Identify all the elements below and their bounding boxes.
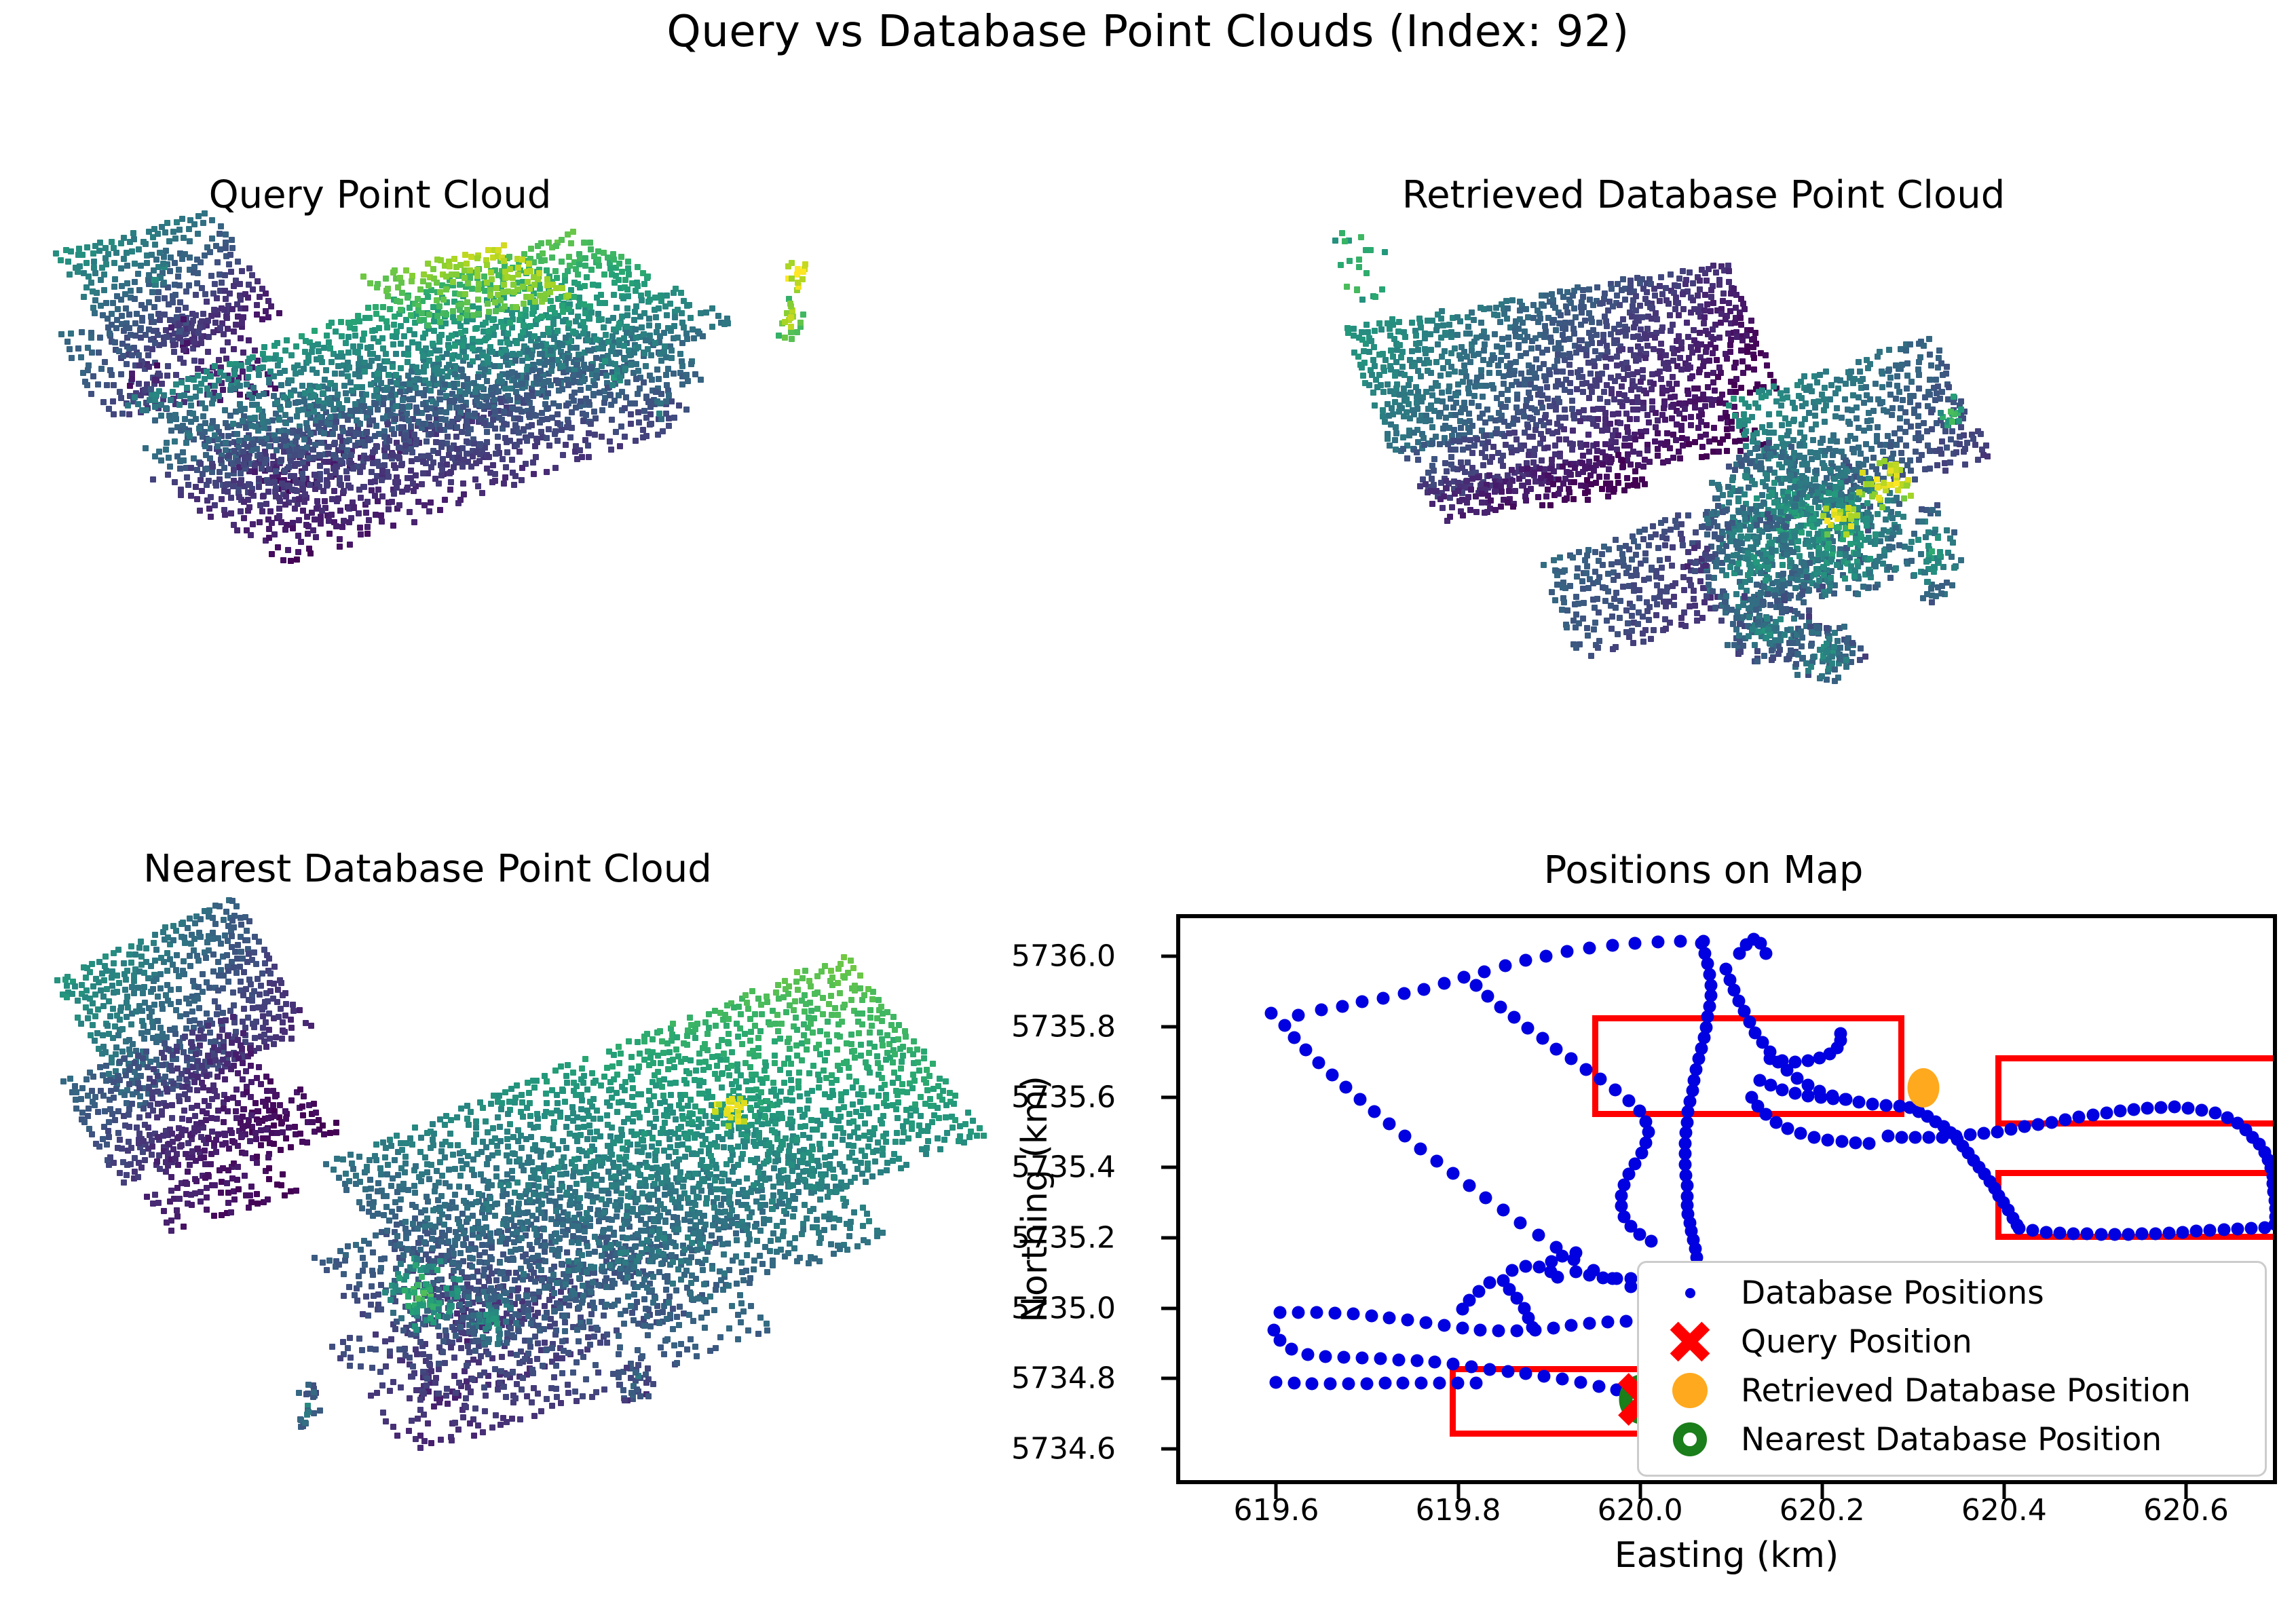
database-position-point	[1365, 1309, 1378, 1322]
point-cloud-query	[41, 244, 1059, 787]
panel-title-nearest: Nearest Database Point Cloud	[0, 847, 855, 891]
database-position-point	[1378, 1377, 1391, 1390]
database-position-point	[1483, 1363, 1496, 1376]
database-position-point	[1629, 937, 1642, 950]
database-position-point	[1274, 1306, 1287, 1319]
database-position-point	[1606, 939, 1619, 952]
database-position-point	[2100, 1107, 2113, 1120]
database-position-point	[1835, 1135, 1848, 1148]
database-position-point	[1287, 1032, 1300, 1044]
database-position-point	[1437, 1319, 1450, 1332]
database-position-point	[1583, 942, 1596, 955]
database-position-point	[1456, 1302, 1469, 1315]
database-position-point	[1538, 1370, 1551, 1383]
database-position-point	[1514, 1216, 1527, 1229]
database-position-point	[1840, 1093, 1853, 1106]
database-position-point	[1437, 977, 1450, 989]
database-position-point	[1619, 1315, 1632, 1327]
database-position-point	[1991, 1125, 2003, 1138]
database-position-point	[2177, 1226, 2189, 1239]
panel-title-query: Query Point Cloud	[75, 173, 685, 217]
legend-item[interactable]: Database Positions	[1639, 1268, 2265, 1317]
database-position-point	[1624, 1272, 1637, 1285]
database-position-point	[1418, 983, 1431, 996]
database-position-point	[1465, 1361, 1478, 1374]
database-position-point	[2040, 1226, 2053, 1239]
database-position-point	[1526, 1321, 1539, 1334]
database-position-point	[2155, 1101, 2168, 1114]
database-position-point	[2094, 1228, 2107, 1241]
database-position-point	[1419, 1317, 1432, 1329]
database-position-point	[1383, 1118, 1396, 1131]
database-position-point	[1292, 1008, 1305, 1021]
database-position-point	[1458, 971, 1471, 984]
database-position-point	[2059, 1114, 2072, 1127]
database-position-point	[1299, 1044, 1312, 1057]
database-position-point	[1482, 990, 1494, 1003]
database-position-point	[1447, 1167, 1460, 1179]
database-position-point	[1311, 1306, 1323, 1319]
database-position-point	[1808, 1131, 1821, 1144]
database-position-point	[1539, 950, 1552, 963]
database-position-point	[1592, 1380, 1605, 1393]
database-position-point	[1776, 1084, 1789, 1097]
legend-label: Database Positions	[1741, 1274, 2044, 1312]
y-tick-label: 5734.6	[1011, 1432, 1116, 1467]
database-position-point	[1415, 1377, 1428, 1390]
database-position-point	[2244, 1222, 2257, 1235]
database-position-point	[1909, 1131, 1922, 1144]
database-position-point	[1633, 1228, 1646, 1241]
y-tick-mark	[1161, 1095, 1176, 1099]
database-position-point	[1456, 1322, 1469, 1335]
y-tick-mark	[1161, 1377, 1176, 1380]
database-position-point	[1433, 1377, 1446, 1390]
database-position-point	[1325, 1068, 1338, 1081]
legend-item[interactable]: Nearest Database Position	[1639, 1415, 2265, 1464]
y-tick-mark	[1161, 1166, 1176, 1169]
database-position-point	[1862, 1137, 1875, 1150]
database-position-point	[1814, 1091, 1827, 1104]
database-position-point	[1474, 1323, 1487, 1336]
database-position-point	[2149, 1227, 2162, 1240]
database-position-point	[1579, 1063, 1592, 1076]
database-position-point	[1822, 1133, 1834, 1146]
database-position-point	[2135, 1228, 2148, 1241]
database-position-point	[1763, 1053, 1776, 1065]
database-position-point	[2073, 1111, 2086, 1124]
database-position-point	[1399, 1130, 1412, 1143]
database-position-point	[1274, 1334, 1287, 1347]
point-cloud-retrieved	[1317, 244, 2280, 808]
y-tick-label: 5735.8	[1011, 1009, 1116, 1044]
database-position-point	[1447, 1358, 1460, 1371]
y-tick-mark	[1161, 955, 1176, 958]
database-position-point	[1881, 1130, 1894, 1143]
map-legend[interactable]: Database PositionsQuery PositionRetrieve…	[1637, 1261, 2267, 1477]
database-position-point	[1285, 1343, 1298, 1356]
database-position-point	[1532, 1228, 1545, 1241]
database-position-point	[2163, 1226, 2176, 1239]
y-tick-mark	[1161, 1448, 1176, 1451]
y-tick-mark	[1161, 1236, 1176, 1240]
database-position-point	[1549, 1042, 1562, 1055]
database-position-point	[1510, 1324, 1523, 1337]
database-position-point	[2190, 1225, 2203, 1238]
database-position-point	[1645, 1235, 1658, 1248]
database-position-point	[1463, 1179, 1476, 1192]
database-position-point	[1401, 1314, 1414, 1327]
database-position-point	[1556, 1373, 1569, 1386]
database-position-point	[1499, 960, 1511, 972]
database-position-point	[1319, 1350, 1332, 1363]
database-position-point	[2081, 1228, 2094, 1241]
database-position-point	[1414, 1142, 1427, 1155]
y-tick-label: 5736.0	[1011, 939, 1116, 974]
database-position-point	[2046, 1116, 2058, 1129]
database-position-point	[1376, 991, 1389, 1004]
database-position-point	[1801, 1089, 1814, 1102]
database-position-point	[1469, 1377, 1482, 1390]
legend-marker-circle-icon	[1639, 1373, 1741, 1408]
database-position-point	[1451, 1377, 1464, 1390]
database-position-point	[1492, 1324, 1505, 1337]
database-position-point	[1292, 1306, 1305, 1319]
database-position-point	[1622, 1094, 1635, 1107]
database-position-point	[1339, 1080, 1352, 1093]
database-position-point	[1328, 1306, 1341, 1319]
database-position-point	[2086, 1109, 2099, 1122]
database-position-point	[1853, 1095, 1866, 1108]
database-position-point	[1383, 1311, 1396, 1324]
database-position-point	[1880, 1099, 1893, 1112]
legend-marker-ring-icon	[1639, 1422, 1741, 1456]
database-position-point	[1789, 1087, 1802, 1100]
database-position-point	[1896, 1131, 1908, 1143]
database-position-point	[2027, 1224, 2039, 1237]
database-position-point	[2032, 1118, 2045, 1131]
database-position-point	[1392, 1353, 1405, 1366]
database-position-point	[1360, 1378, 1373, 1391]
database-position-point	[1574, 1376, 1587, 1389]
panel-title-map: Positions on Map	[1432, 848, 1975, 892]
database-position-point	[1849, 1136, 1862, 1149]
database-position-point	[1789, 1055, 1802, 1068]
database-position-point	[1497, 1204, 1509, 1217]
database-position-point	[1547, 1322, 1560, 1335]
database-position-point	[1594, 1073, 1607, 1086]
database-position-point	[2067, 1227, 2080, 1240]
y-tick-mark	[1161, 1306, 1176, 1310]
database-position-point	[1356, 1352, 1369, 1365]
retrieved-position-marker	[1908, 1068, 1940, 1108]
database-position-point	[1494, 1000, 1507, 1013]
database-position-point	[1556, 1249, 1569, 1262]
database-position-point	[1507, 1011, 1520, 1024]
y-tick-mark	[1161, 1025, 1176, 1028]
database-position-point	[2004, 1123, 2017, 1136]
database-position-point	[1306, 1378, 1319, 1391]
database-position-point	[1520, 1367, 1532, 1380]
legend-marker-dot-icon	[1639, 1288, 1741, 1298]
legend-item[interactable]: Retrieved Database Position	[1639, 1366, 2265, 1415]
database-position-point	[1469, 979, 1482, 991]
figure-suptitle: Query vs Database Point Clouds (Index: 9…	[0, 7, 2296, 57]
database-position-point	[1674, 934, 1687, 947]
database-position-point	[1651, 936, 1664, 949]
database-position-point	[1287, 1377, 1300, 1390]
database-position-point	[1570, 1246, 1583, 1259]
database-position-point	[1950, 1130, 1963, 1143]
database-position-point	[1560, 945, 1573, 958]
database-position-point	[1520, 954, 1532, 967]
database-position-point	[1501, 1365, 1514, 1378]
database-position-point	[1506, 1264, 1519, 1277]
database-position-point	[1602, 1316, 1615, 1329]
database-position-point	[1583, 1269, 1596, 1282]
database-position-point	[1354, 1093, 1367, 1106]
database-position-point	[1551, 1270, 1564, 1283]
database-position-point	[1279, 1019, 1292, 1032]
database-position-point	[2018, 1120, 2031, 1133]
database-position-point	[2217, 1224, 2230, 1236]
database-position-point	[1597, 1271, 1610, 1284]
database-position-point	[1801, 1055, 1814, 1067]
database-position-point	[1760, 947, 1773, 960]
database-position-point	[2204, 1224, 2217, 1237]
database-position-point	[1520, 1260, 1532, 1273]
database-position-point	[1374, 1353, 1387, 1365]
legend-item[interactable]: Query Position	[1639, 1317, 2265, 1366]
legend-marker-x-icon	[1639, 1322, 1741, 1361]
database-position-point	[2209, 1107, 2222, 1120]
database-position-point	[1764, 1079, 1777, 1092]
database-position-point	[2182, 1102, 2195, 1115]
database-position-point	[1565, 1053, 1578, 1065]
database-position-point	[1782, 1122, 1794, 1135]
database-position-point	[1312, 1056, 1325, 1069]
database-position-point	[1324, 1378, 1337, 1391]
database-position-point	[1776, 1055, 1789, 1067]
database-position-point	[1397, 987, 1410, 1000]
database-position-point	[2122, 1228, 2134, 1241]
database-position-point	[1431, 1154, 1444, 1167]
database-position-point	[1565, 1319, 1578, 1332]
legend-label: Retrieved Database Position	[1741, 1372, 2191, 1410]
database-position-point	[2231, 1223, 2244, 1236]
legend-label: Query Position	[1741, 1323, 1972, 1361]
database-position-point	[2141, 1102, 2153, 1115]
database-position-point	[1611, 1272, 1623, 1285]
figure-canvas: Query vs Database Point Clouds (Index: 9…	[0, 0, 2296, 1607]
x-axis-label: Easting (km)	[1615, 1535, 1839, 1576]
database-position-point	[1570, 1266, 1583, 1279]
database-position-point	[1834, 1027, 1847, 1040]
database-position-point	[1429, 1356, 1442, 1369]
database-position-point	[1770, 1116, 1783, 1129]
database-position-point	[1483, 1276, 1496, 1289]
database-position-point	[1269, 1376, 1282, 1389]
database-position-point	[1866, 1097, 1879, 1110]
database-position-point	[2196, 1103, 2208, 1116]
database-position-point	[1478, 965, 1490, 978]
database-position-point	[1356, 996, 1369, 1008]
database-position-point	[1315, 1003, 1328, 1016]
database-position-point	[1963, 1129, 1976, 1141]
database-position-point	[1265, 1007, 1278, 1020]
database-position-point	[1583, 1317, 1596, 1330]
database-position-point	[2168, 1101, 2181, 1114]
database-position-point	[1480, 1192, 1492, 1205]
database-position-point	[2113, 1105, 2126, 1118]
y-tick-label: 5734.8	[1011, 1361, 1116, 1396]
database-position-point	[1608, 1084, 1621, 1097]
database-position-point	[1347, 1308, 1359, 1321]
database-position-point	[2108, 1228, 2121, 1241]
database-position-point	[1536, 1032, 1549, 1045]
database-position-point	[1827, 1093, 1840, 1105]
database-position-point	[1936, 1131, 1949, 1143]
point-cloud-nearest	[41, 937, 964, 1547]
database-position-point	[2127, 1103, 2140, 1116]
database-position-point	[1336, 1000, 1349, 1013]
database-position-point	[1794, 1127, 1807, 1140]
panel-title-retrieved: Retrieved Database Point Cloud	[1194, 173, 2213, 217]
database-position-point	[1301, 1348, 1314, 1361]
database-position-point	[2012, 1222, 2025, 1235]
y-axis-label: Northing (km)	[1015, 1076, 1055, 1323]
database-position-point	[1397, 1377, 1410, 1390]
database-position-point	[1977, 1127, 1990, 1140]
database-position-point	[1338, 1351, 1351, 1364]
database-position-point	[1368, 1105, 1380, 1118]
database-position-point	[1522, 1021, 1535, 1034]
database-position-point	[1342, 1378, 1355, 1391]
database-position-point	[1923, 1131, 1936, 1144]
database-position-point	[2054, 1226, 2067, 1239]
database-position-point	[1410, 1355, 1423, 1367]
legend-label: Nearest Database Position	[1741, 1421, 2162, 1458]
